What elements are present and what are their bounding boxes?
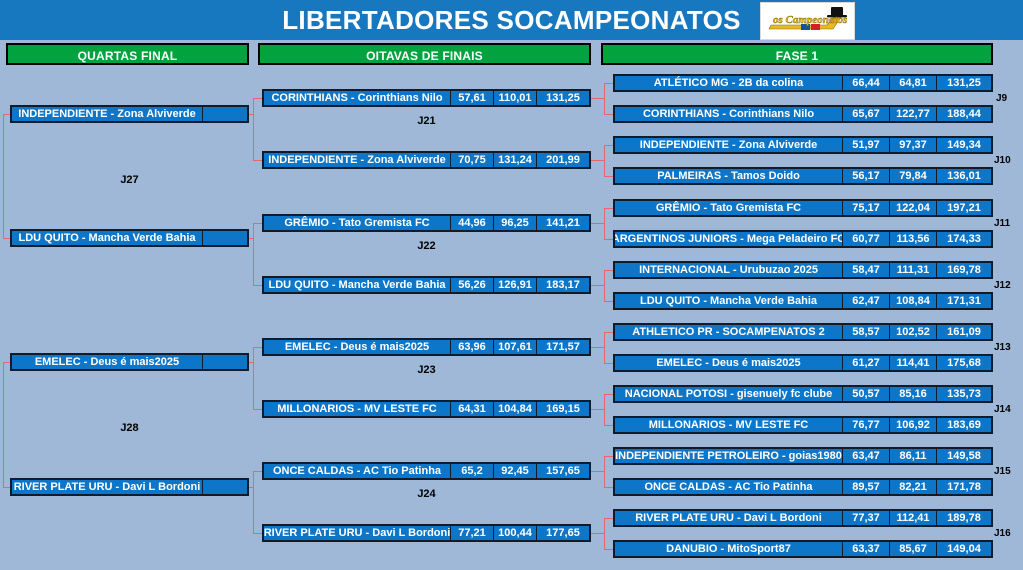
score-total: 149,58 <box>936 449 991 463</box>
connector <box>3 114 4 239</box>
score-empty <box>202 355 247 369</box>
score-1: 57,61 <box>450 91 493 105</box>
connector <box>604 487 613 488</box>
match-label-j22: J22 <box>262 240 591 252</box>
score-1: 77,21 <box>450 526 493 540</box>
table-row[interactable]: CORINTHIANS - Corinthians Nilo 65,67 122… <box>613 105 993 123</box>
score-empty <box>202 107 247 121</box>
connector <box>604 83 605 115</box>
table-row[interactable]: GRÊMIO - Tato Gremista FC 75,17 122,04 1… <box>613 199 993 217</box>
score-2: 114,41 <box>889 356 936 370</box>
column-header-quartas[interactable]: QUARTAS FINAL <box>6 43 249 65</box>
table-row[interactable]: INDEPENDIENTE - Zona Alviverde 70,75 131… <box>262 151 591 169</box>
score-1: 65,67 <box>842 107 889 121</box>
team-name: RIVER PLATE URU - Davi L Bordoni <box>615 511 842 525</box>
logo-graphic: os Campeonatos <box>761 3 854 39</box>
connector <box>253 533 262 534</box>
team-name: CORINTHIANS - Corinthians Nilo <box>264 91 450 105</box>
match-label-j12: J12 <box>994 280 1011 291</box>
connector <box>604 425 613 426</box>
table-row[interactable]: ONCE CALDAS - AC Tio Patinha 65,2 92,45 … <box>262 462 591 480</box>
score-1: 44,96 <box>450 216 493 230</box>
connector <box>253 409 262 410</box>
score-total: 135,73 <box>936 387 991 401</box>
match-label-j24: J24 <box>262 488 591 500</box>
score-total: 149,34 <box>936 138 991 152</box>
connector <box>604 394 605 426</box>
table-row[interactable]: INDEPENDIENTE PETROLEIRO - goias1980 63,… <box>613 447 993 465</box>
connector <box>604 208 605 240</box>
team-name: INTERNACIONAL - Urubuzao 2025 <box>615 263 842 277</box>
score-1: 63,47 <box>842 449 889 463</box>
score-total: 188,44 <box>936 107 991 121</box>
score-1: 56,26 <box>450 278 493 292</box>
connector <box>3 238 10 239</box>
score-2: 122,77 <box>889 107 936 121</box>
match-label-j11: J11 <box>994 218 1010 229</box>
connector <box>3 362 4 487</box>
team-name: MILLONARIOS - MV LESTE FC <box>264 402 450 416</box>
team-name: GRÊMIO - Tato Gremista FC <box>615 201 842 215</box>
score-1: 65,2 <box>450 464 493 478</box>
table-row[interactable]: ATHLETICO PR - SOCAMPENATOS 2 58,57 102,… <box>613 323 993 341</box>
score-total: 171,31 <box>936 294 991 308</box>
connector <box>591 347 604 348</box>
match-label-j27: J27 <box>10 174 249 186</box>
connector <box>604 332 605 364</box>
score-total: 171,78 <box>936 480 991 494</box>
connector <box>253 98 262 99</box>
score-1: 70,75 <box>450 153 493 167</box>
score-1: 66,44 <box>842 76 889 90</box>
connector <box>604 176 613 177</box>
connector <box>3 114 10 115</box>
table-row[interactable]: ONCE CALDAS - AC Tio Patinha 89,57 82,21… <box>613 478 993 496</box>
connector <box>604 518 605 550</box>
column-header-fase1[interactable]: FASE 1 <box>601 43 993 65</box>
connector <box>591 471 604 472</box>
score-2: 97,37 <box>889 138 936 152</box>
team-name: DANUBIO - MitoSport87 <box>615 542 842 556</box>
table-row[interactable]: ATLÉTICO MG - 2B da colina 66,44 64,81 1… <box>613 74 993 92</box>
table-row[interactable]: DANUBIO - MitoSport87 63,37 85,67 149,04 <box>613 540 993 558</box>
connector <box>604 394 613 395</box>
connector <box>604 83 613 84</box>
score-2: 96,25 <box>493 216 536 230</box>
connector <box>249 114 253 115</box>
table-row[interactable]: RIVER PLATE URU - Davi L Bordoni <box>10 478 249 496</box>
score-1: 62,47 <box>842 294 889 308</box>
title-bar: LIBERTADORES SOCAMPEONATOS os Campeonato… <box>0 0 1023 40</box>
score-2: 86,11 <box>889 449 936 463</box>
score-2: 111,31 <box>889 263 936 277</box>
match-label-j16: J16 <box>994 528 1011 539</box>
score-1: 63,37 <box>842 542 889 556</box>
score-1: 89,57 <box>842 480 889 494</box>
score-total: 131,25 <box>936 76 991 90</box>
score-1: 50,57 <box>842 387 889 401</box>
score-1: 63,96 <box>450 340 493 354</box>
score-1: 56,17 <box>842 169 889 183</box>
score-total: 174,33 <box>936 232 991 246</box>
score-total: 136,01 <box>936 169 991 183</box>
table-row[interactable]: MILLONARIOS - MV LESTE FC 64,31 104,84 1… <box>262 400 591 418</box>
team-name: INDEPENDIENTE PETROLEIRO - goias1980 <box>615 449 842 463</box>
score-2: 122,04 <box>889 201 936 215</box>
score-total: 131,25 <box>536 91 589 105</box>
match-label-j21: J21 <box>262 115 591 127</box>
connector <box>604 301 613 302</box>
connector <box>591 160 604 161</box>
connector <box>3 362 10 363</box>
score-2: 131,24 <box>493 153 536 167</box>
table-row[interactable]: INTERNACIONAL - Urubuzao 2025 58,47 111,… <box>613 261 993 279</box>
match-label-j15: J15 <box>994 466 1011 477</box>
team-name: INDEPENDIENTE - Zona Alviverde <box>615 138 842 152</box>
score-total: 177,65 <box>536 526 589 540</box>
score-total: 189,78 <box>936 511 991 525</box>
team-name: EMELEC - Deus é mais2025 <box>615 356 842 370</box>
score-1: 77,37 <box>842 511 889 525</box>
match-label-j28: J28 <box>10 422 249 434</box>
match-label-j13: J13 <box>994 342 1011 353</box>
score-total: 183,17 <box>536 278 589 292</box>
connector <box>604 145 613 146</box>
svg-text:os Campeonatos: os Campeonatos <box>773 14 847 26</box>
team-name: NACIONAL POTOSI - gisenuely fc clube <box>615 387 842 401</box>
connector <box>591 223 604 224</box>
score-total: 175,68 <box>936 356 991 370</box>
connector <box>604 208 613 209</box>
page-title: LIBERTADORES SOCAMPEONATOS <box>0 0 1023 40</box>
team-name: RIVER PLATE URU - Davi L Bordoni <box>12 480 202 494</box>
connector <box>253 98 254 161</box>
connector <box>604 145 605 177</box>
connector <box>604 456 605 488</box>
team-name: LDU QUITO - Mancha Verde Bahia <box>12 231 202 245</box>
team-name: INDEPENDIENTE - Zona Alviverde <box>12 107 202 121</box>
connector <box>591 409 604 410</box>
score-2: 82,21 <box>889 480 936 494</box>
score-total: 197,21 <box>936 201 991 215</box>
connector <box>591 533 604 534</box>
table-row[interactable]: MILLONARIOS - MV LESTE FC 76,77 106,92 1… <box>613 416 993 434</box>
score-total: 169,15 <box>536 402 589 416</box>
score-1: 60,77 <box>842 232 889 246</box>
team-name: EMELEC - Deus é mais2025 <box>12 355 202 369</box>
connector <box>253 160 262 161</box>
score-1: 58,57 <box>842 325 889 339</box>
score-total: 201,99 <box>536 153 589 167</box>
score-total: 141,21 <box>536 216 589 230</box>
team-name: LDU QUITO - Mancha Verde Bahia <box>615 294 842 308</box>
table-row[interactable]: RIVER PLATE URU - Davi L Bordoni 77,21 1… <box>262 524 591 542</box>
table-row[interactable]: GRÊMIO - Tato Gremista FC 44,96 96,25 14… <box>262 214 591 232</box>
score-2: 108,84 <box>889 294 936 308</box>
connector <box>253 285 262 286</box>
connector <box>604 114 613 115</box>
bracket-page: LIBERTADORES SOCAMPEONATOS os Campeonato… <box>0 0 1023 570</box>
score-2: 79,84 <box>889 169 936 183</box>
connector <box>591 98 604 99</box>
connector <box>253 347 254 410</box>
table-row[interactable]: INDEPENDIENTE - Zona Alviverde <box>10 105 249 123</box>
score-total: 157,65 <box>536 464 589 478</box>
score-empty <box>202 231 247 245</box>
table-row[interactable]: LDU QUITO - Mancha Verde Bahia 56,26 126… <box>262 276 591 294</box>
column-header-oitavas[interactable]: OITAVAS DE FINAIS <box>258 43 591 65</box>
score-1: 61,27 <box>842 356 889 370</box>
connector <box>604 270 605 302</box>
team-name: GRÊMIO - Tato Gremista FC <box>264 216 450 230</box>
connector <box>604 270 613 271</box>
score-2: 102,52 <box>889 325 936 339</box>
team-name: EMELEC - Deus é mais2025 <box>264 340 450 354</box>
team-name: RIVER PLATE URU - Davi L Bordoni <box>264 526 450 540</box>
score-1: 75,17 <box>842 201 889 215</box>
table-row[interactable]: LDU QUITO - Mancha Verde Bahia 62,47 108… <box>613 292 993 310</box>
table-row[interactable]: PALMEIRAS - Tamos Doido 56,17 79,84 136,… <box>613 167 993 185</box>
table-row[interactable]: NACIONAL POTOSI - gisenuely fc clube 50,… <box>613 385 993 403</box>
connector <box>604 363 613 364</box>
score-total: 183,69 <box>936 418 991 432</box>
team-name: CORINTHIANS - Corinthians Nilo <box>615 107 842 121</box>
connector <box>253 471 254 534</box>
team-name: ATHLETICO PR - SOCAMPENATOS 2 <box>615 325 842 339</box>
team-name: PALMEIRAS - Tamos Doido <box>615 169 842 183</box>
connector <box>253 223 254 286</box>
site-logo: os Campeonatos <box>760 2 855 40</box>
score-2: 85,16 <box>889 387 936 401</box>
score-1: 64,31 <box>450 402 493 416</box>
score-1: 51,97 <box>842 138 889 152</box>
match-label-j14: J14 <box>994 404 1011 415</box>
connector <box>249 362 253 363</box>
score-1: 76,77 <box>842 418 889 432</box>
score-2: 92,45 <box>493 464 536 478</box>
score-total: 161,09 <box>936 325 991 339</box>
connector <box>591 285 604 286</box>
connector <box>3 487 10 488</box>
score-2: 110,01 <box>493 91 536 105</box>
table-row[interactable]: EMELEC - Deus é mais2025 <box>10 353 249 371</box>
team-name: MILLONARIOS - MV LESTE FC <box>615 418 842 432</box>
team-name: ONCE CALDAS - AC Tio Patinha <box>264 464 450 478</box>
connector <box>604 239 613 240</box>
connector <box>249 487 253 488</box>
team-name: LDU QUITO - Mancha Verde Bahia <box>264 278 450 292</box>
score-2: 106,92 <box>889 418 936 432</box>
connector <box>253 471 262 472</box>
score-2: 104,84 <box>493 402 536 416</box>
team-name: INDEPENDIENTE - Zona Alviverde <box>264 153 450 167</box>
match-label-j23: J23 <box>262 364 591 376</box>
connector <box>253 347 262 348</box>
connector <box>249 238 253 239</box>
table-row[interactable]: EMELEC - Deus é mais2025 63,96 107,61 17… <box>262 338 591 356</box>
match-label-j10: J10 <box>994 155 1011 166</box>
score-empty <box>202 480 247 494</box>
score-total: 171,57 <box>536 340 589 354</box>
score-total: 149,04 <box>936 542 991 556</box>
score-2: 100,44 <box>493 526 536 540</box>
team-name: ATLÉTICO MG - 2B da colina <box>615 76 842 90</box>
team-name: ARGENTINOS JUNIORS - Mega Peladeiro FC <box>615 232 842 246</box>
score-2: 64,81 <box>889 76 936 90</box>
table-row[interactable]: INDEPENDIENTE - Zona Alviverde 51,97 97,… <box>613 136 993 154</box>
table-row[interactable]: RIVER PLATE URU - Davi L Bordoni 77,37 1… <box>613 509 993 527</box>
score-1: 58,47 <box>842 263 889 277</box>
connector <box>604 518 613 519</box>
table-row[interactable]: EMELEC - Deus é mais2025 61,27 114,41 17… <box>613 354 993 372</box>
score-2: 126,91 <box>493 278 536 292</box>
connector <box>604 332 613 333</box>
table-row[interactable]: LDU QUITO - Mancha Verde Bahia <box>10 229 249 247</box>
score-2: 112,41 <box>889 511 936 525</box>
connector <box>253 223 262 224</box>
score-2: 85,67 <box>889 542 936 556</box>
score-2: 107,61 <box>493 340 536 354</box>
connector <box>604 549 613 550</box>
connector <box>604 456 613 457</box>
score-total: 169,78 <box>936 263 991 277</box>
table-row[interactable]: CORINTHIANS - Corinthians Nilo 57,61 110… <box>262 89 591 107</box>
table-row[interactable]: ARGENTINOS JUNIORS - Mega Peladeiro FC 6… <box>613 230 993 248</box>
score-2: 113,56 <box>889 232 936 246</box>
match-label-j9: J9 <box>996 93 1007 104</box>
team-name: ONCE CALDAS - AC Tio Patinha <box>615 480 842 494</box>
